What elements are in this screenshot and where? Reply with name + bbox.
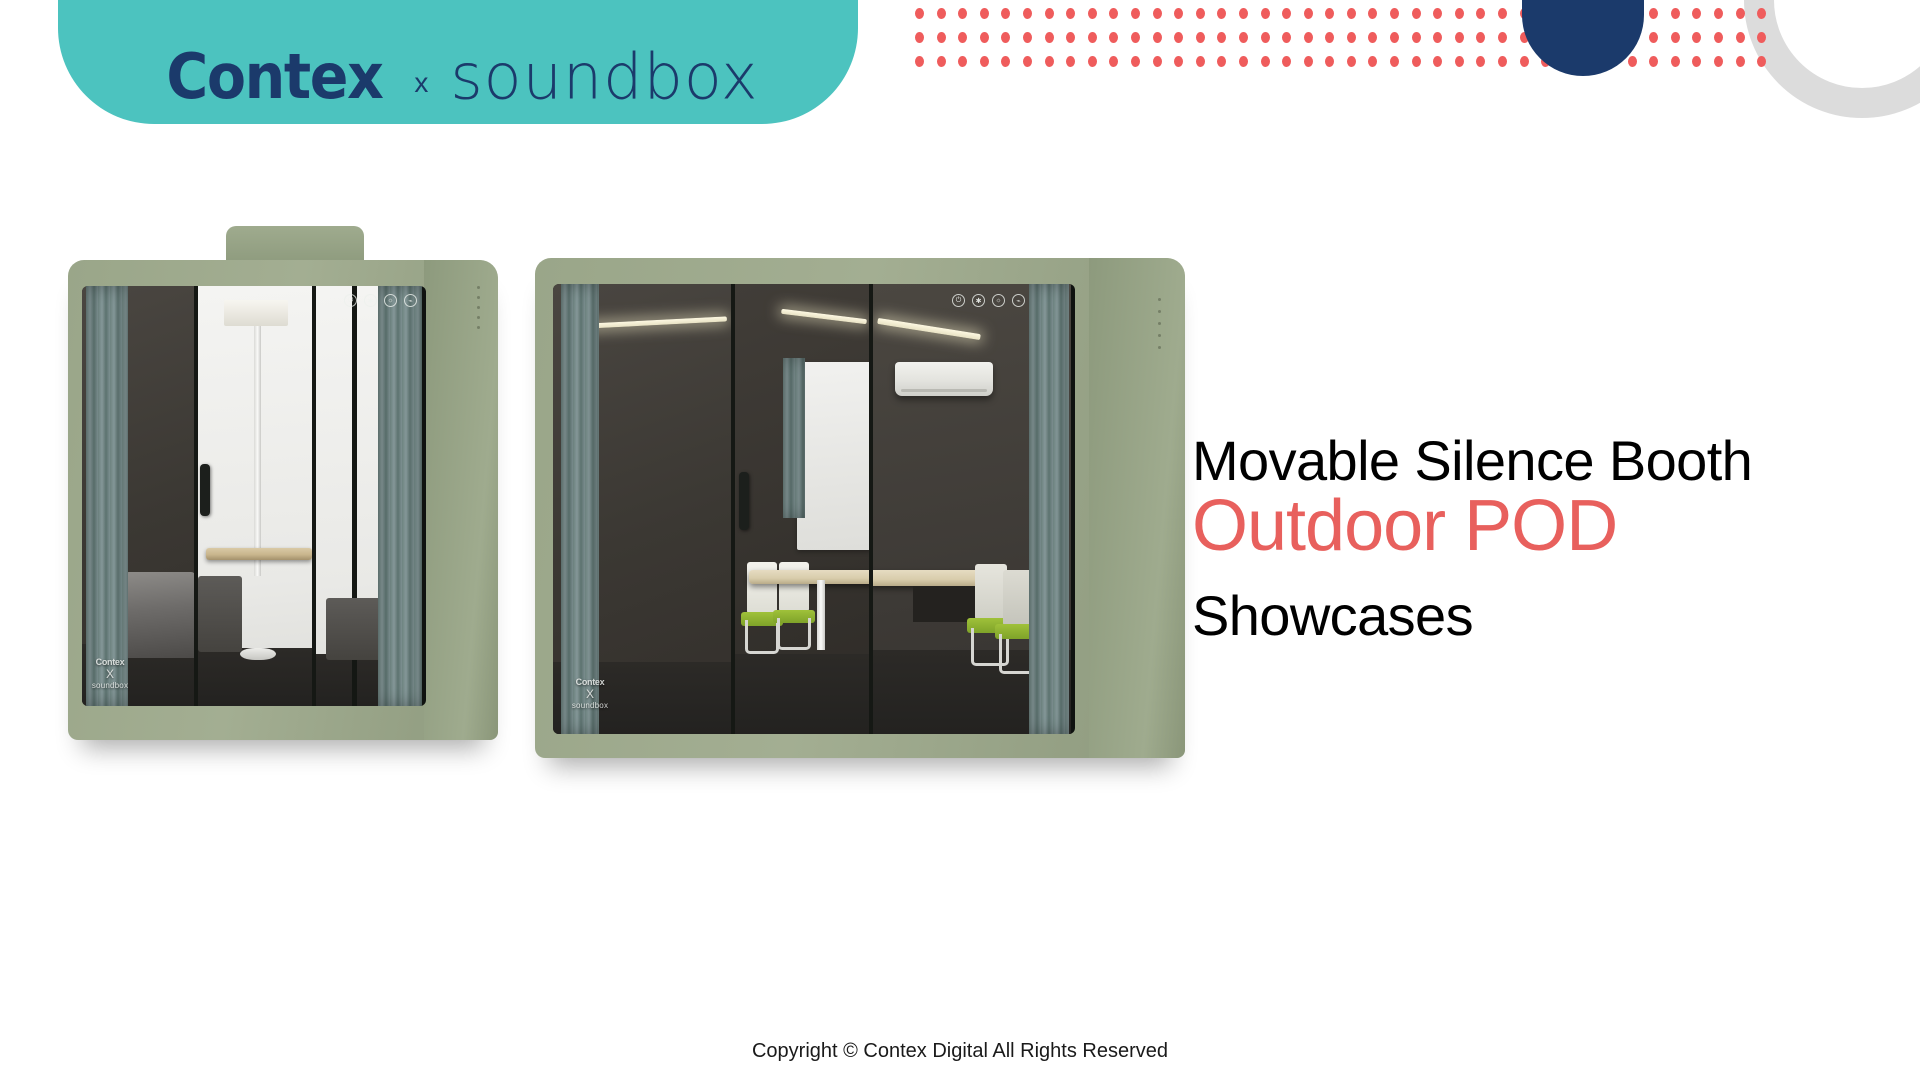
dot — [1325, 8, 1334, 19]
pod-left-bench — [124, 572, 194, 658]
dot — [1671, 32, 1680, 43]
dot — [1498, 32, 1507, 43]
dot — [1066, 8, 1075, 19]
dot — [1153, 32, 1162, 43]
fan-icon[interactable]: ✱ — [972, 294, 985, 307]
dot — [958, 8, 967, 19]
dot — [937, 8, 946, 19]
dot — [1563, 32, 1572, 43]
pod-left-panel-curtain-left: Contex X soundbox — [82, 286, 194, 706]
usb-icon[interactable]: ⌁ — [1012, 294, 1025, 307]
pod-left-side-panel — [424, 260, 498, 740]
dot — [1584, 32, 1593, 43]
dot — [1109, 56, 1118, 67]
pod-left-panel-curtain-right: ⏻ ✱ ☼ ⌁ — [312, 286, 422, 706]
dot — [1347, 56, 1356, 67]
dot — [1628, 32, 1637, 43]
footer-copyright: Copyright © Contex Digital All Rights Re… — [0, 1040, 1920, 1063]
navy-blob-decoration — [1522, 0, 1644, 76]
dot — [1412, 8, 1421, 19]
dot — [1304, 32, 1313, 43]
dot — [1023, 32, 1032, 43]
dot — [1261, 32, 1270, 43]
pod-right-panel-left: Contex X soundbox — [553, 284, 731, 734]
dot-grid-row — [915, 8, 1766, 19]
dot — [1261, 56, 1270, 67]
pod-image-right: Contex X soundbox — [535, 258, 1185, 778]
dot — [1476, 8, 1485, 19]
dot — [1368, 56, 1377, 67]
dot — [1714, 56, 1723, 67]
dot — [1520, 32, 1529, 43]
pod-left-table-base — [240, 648, 276, 660]
dot — [1671, 8, 1680, 19]
dot — [1131, 56, 1140, 67]
dot — [915, 32, 924, 43]
dot — [1045, 56, 1054, 67]
dot — [1368, 32, 1377, 43]
dot — [1476, 56, 1485, 67]
dot — [1757, 56, 1766, 67]
dot — [1088, 32, 1097, 43]
brand-badge-inner: Contex x soundbox — [157, 46, 758, 108]
pod-right-side-panel — [1089, 258, 1185, 758]
dot — [1153, 56, 1162, 67]
dot — [1196, 56, 1205, 67]
dot — [1261, 8, 1270, 19]
pod-left-ceiling-light — [224, 300, 288, 326]
dot — [1066, 32, 1075, 43]
dot — [1174, 8, 1183, 19]
pod-right-decal-top: Contex — [565, 678, 615, 687]
dot — [915, 8, 924, 19]
pod-right-table-left-part — [749, 570, 869, 584]
dot — [937, 32, 946, 43]
dot — [1325, 56, 1334, 67]
pod-right-decal-mid: X — [565, 688, 615, 701]
dot — [1088, 8, 1097, 19]
dot — [1649, 32, 1658, 43]
headline-line-3: Showcases — [1192, 587, 1852, 645]
dot — [1347, 32, 1356, 43]
dot — [1584, 8, 1593, 19]
light-icon[interactable]: ☼ — [992, 294, 1005, 307]
dot — [1714, 8, 1723, 19]
dot — [1757, 8, 1766, 19]
dot — [1001, 8, 1010, 19]
pod-right-glass-decal: Contex X soundbox — [565, 678, 615, 710]
pod-left-curtain-a — [86, 286, 128, 706]
dot — [1606, 32, 1615, 43]
dot — [1282, 32, 1291, 43]
dot — [1023, 56, 1032, 67]
dot — [1498, 8, 1507, 19]
pod-left-door-handle[interactable] — [200, 464, 210, 516]
pod-left-glass-front: Contex X soundbox — [82, 286, 426, 706]
dot — [1606, 56, 1615, 67]
dot — [1239, 8, 1248, 19]
dot — [1153, 8, 1162, 19]
pod-right-curtain-a — [561, 284, 599, 734]
dot — [1390, 56, 1399, 67]
dot — [980, 56, 989, 67]
dot — [1001, 32, 1010, 43]
dot — [1671, 56, 1680, 67]
headline-block: Movable Silence Booth Outdoor POD Showca… — [1192, 432, 1852, 645]
dot — [1433, 8, 1442, 19]
dot — [1455, 56, 1464, 67]
dot-grid-row — [915, 32, 1766, 43]
dot — [1736, 8, 1745, 19]
dot — [1304, 8, 1313, 19]
pod-left-panel-door — [194, 286, 312, 706]
pod-right-decal-bottom: soundbox — [565, 702, 615, 710]
dot — [980, 8, 989, 19]
dot — [1390, 8, 1399, 19]
gray-arc-decoration — [1744, 0, 1920, 118]
dot — [1606, 8, 1615, 19]
dot — [1757, 32, 1766, 43]
pod-right-ac-unit — [895, 362, 993, 396]
pod-left-decal-top: Contex — [88, 658, 132, 667]
pod-right-panel-right: ⏻ ✱ ☼ ⌁ — [869, 284, 1071, 734]
dot — [1692, 32, 1701, 43]
dot — [1196, 32, 1205, 43]
pod-right-curtain-b — [1029, 284, 1069, 734]
dot — [1649, 8, 1658, 19]
dot — [1541, 8, 1550, 19]
dot — [1196, 8, 1205, 19]
dot — [1282, 56, 1291, 67]
dot — [1476, 32, 1485, 43]
dot — [1692, 56, 1701, 67]
dot — [1131, 32, 1140, 43]
dot — [1455, 32, 1464, 43]
headline-line-1: Movable Silence Booth — [1192, 432, 1852, 490]
dot — [1217, 8, 1226, 19]
dot — [1109, 8, 1118, 19]
pod-right-panel-door — [731, 284, 869, 734]
headline-line-2: Outdoor POD — [1192, 488, 1852, 564]
dot — [1045, 32, 1054, 43]
dot — [1563, 8, 1572, 19]
dot — [1649, 56, 1658, 67]
pod-left-table-top — [206, 548, 312, 560]
dot-grid-decoration — [915, 8, 1766, 67]
dot — [1347, 8, 1356, 19]
dot — [1433, 56, 1442, 67]
dot — [1584, 56, 1593, 67]
power-icon[interactable]: ⏻ — [952, 294, 965, 307]
dot — [1217, 56, 1226, 67]
pod-left-decal-bottom: soundbox — [88, 682, 132, 690]
dot — [1174, 56, 1183, 67]
dot — [958, 32, 967, 43]
dot — [1498, 56, 1507, 67]
dot — [1692, 8, 1701, 19]
dot — [1412, 32, 1421, 43]
dot — [1109, 32, 1118, 43]
dot — [1520, 8, 1529, 19]
dot — [1001, 56, 1010, 67]
pod-left-status-icons[interactable]: ⏻ ✱ ☼ ⌁ — [344, 294, 417, 307]
pod-right-status-icons[interactable]: ⏻ ✱ ☼ ⌁ — [952, 294, 1025, 307]
dot — [1217, 32, 1226, 43]
dot — [1628, 56, 1637, 67]
dot — [1541, 32, 1550, 43]
dot — [1390, 32, 1399, 43]
dot — [1174, 32, 1183, 43]
brand-name-contex: Contex — [167, 46, 383, 108]
pod-left-decal-mid: X — [88, 668, 132, 681]
pod-left-table-leg — [254, 326, 261, 576]
dot — [1239, 56, 1248, 67]
pod-left-glass-decal: Contex X soundbox — [88, 658, 132, 690]
dot — [1714, 32, 1723, 43]
dot — [937, 56, 946, 67]
light-icon[interactable]: ☼ — [384, 294, 397, 307]
dot — [1131, 8, 1140, 19]
pod-right-curtain-inner — [783, 358, 805, 518]
dot — [1023, 8, 1032, 19]
pod-right-table-leg-left — [817, 580, 825, 650]
pod-right-glass-front: Contex X soundbox — [553, 284, 1075, 734]
dot — [1628, 8, 1637, 19]
power-icon[interactable]: ⏻ — [344, 294, 357, 307]
pod-left-seat-front — [198, 576, 242, 652]
pod-left-curtain-b — [378, 286, 422, 706]
brand-badge: Contex x soundbox — [58, 0, 858, 124]
dot — [1455, 8, 1464, 19]
dot — [1066, 56, 1075, 67]
dot — [1088, 56, 1097, 67]
dot — [1282, 8, 1291, 19]
dot — [1563, 56, 1572, 67]
dot — [980, 32, 989, 43]
usb-icon[interactable]: ⌁ — [404, 294, 417, 307]
fan-icon[interactable]: ✱ — [364, 294, 377, 307]
dot — [1304, 56, 1313, 67]
pod-showcase-images: Contex X soundbox — [0, 250, 1200, 820]
brand-name-soundbox: soundbox — [450, 45, 758, 108]
brand-separator-x: x — [414, 69, 428, 97]
dot — [1520, 56, 1529, 67]
dot — [1433, 32, 1442, 43]
dot — [1736, 56, 1745, 67]
dot — [1239, 32, 1248, 43]
dot — [1368, 8, 1377, 19]
dot — [915, 56, 924, 67]
pod-right-door-handle[interactable] — [739, 472, 749, 530]
dot — [1541, 56, 1550, 67]
dot — [1045, 8, 1054, 19]
dot — [958, 56, 967, 67]
dot — [1412, 56, 1421, 67]
pod-image-left: Contex X soundbox — [68, 250, 498, 750]
pod-right-whiteboard — [797, 362, 869, 550]
dot — [1325, 32, 1334, 43]
dot-grid-row — [915, 56, 1766, 67]
dot — [1736, 32, 1745, 43]
